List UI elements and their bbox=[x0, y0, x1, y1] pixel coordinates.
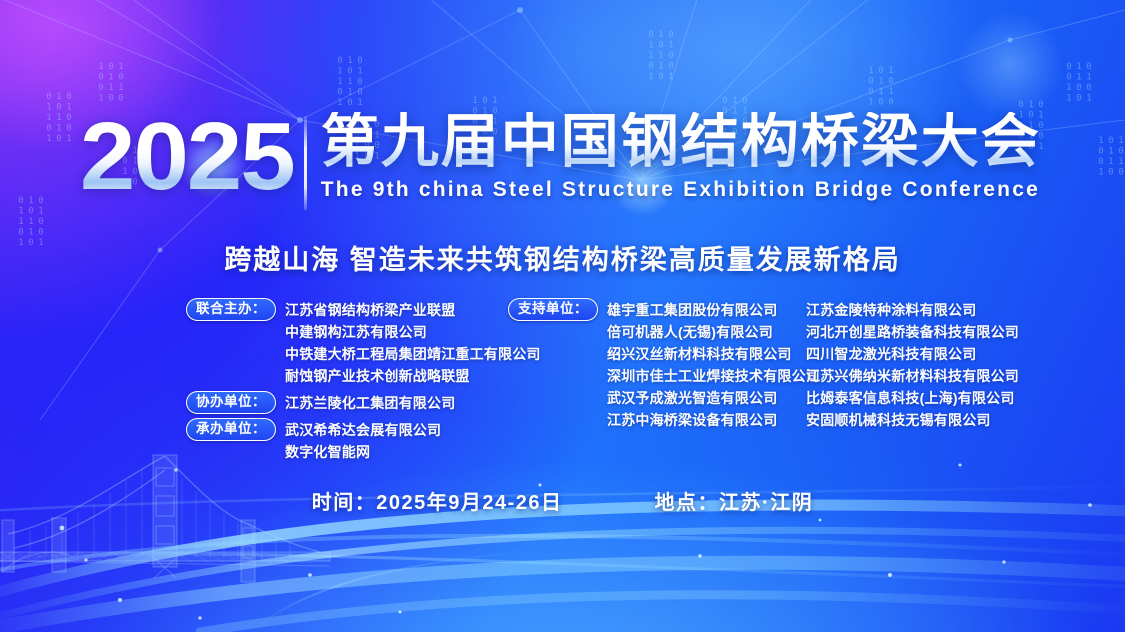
list-item: 倍可机器人(无锡)有限公司 bbox=[607, 321, 820, 343]
list-item: 中铁建大桥工程局集团靖江重工有限公司 bbox=[285, 343, 541, 365]
list-item: 四川智龙激光科技有限公司 bbox=[806, 343, 1106, 365]
organizer-group-undertakers: 承办单位： 武汉希希达会展有限公司 数字化智能网 bbox=[186, 418, 516, 463]
conference-slogan: 跨越山海 智造未来共筑钢结构桥梁高质量发展新格局 bbox=[0, 238, 1125, 277]
label-co-hosts: 联合主办： bbox=[186, 298, 276, 321]
binary-column-9: 1010 0110 1001 bbox=[866, 66, 896, 108]
organizers-section: 联合主办： 江苏省钢结构桥梁产业联盟 中建钢构江苏有限公司 中铁建大桥工程局集团… bbox=[0, 298, 1125, 448]
supporters-list-continued: 江苏金陵特种涂料有限公司 河北开创星路桥装备科技有限公司 四川智龙激光科技有限公… bbox=[806, 298, 1106, 431]
co-hosts-list: 江苏省钢结构桥梁产业联盟 中建钢构江苏有限公司 中铁建大桥工程局集团靖江重工有限… bbox=[285, 298, 541, 387]
organizer-group-co-hosts: 联合主办： 江苏省钢结构桥梁产业联盟 中建钢构江苏有限公司 中铁建大桥工程局集团… bbox=[186, 298, 516, 387]
event-location: 地点：江苏·江阴 bbox=[655, 486, 814, 515]
binary-column-2: 1010 0110 1001 bbox=[96, 62, 126, 104]
organizer-group-co-organizers: 协办单位： 江苏兰陵化工集团有限公司 bbox=[186, 391, 516, 414]
list-item: 数字化智能网 bbox=[285, 441, 441, 463]
label-supporters: 支持单位： bbox=[508, 298, 598, 321]
list-item: 武汉予成激光智造有限公司 bbox=[607, 387, 820, 409]
list-item: 江苏兴佛纳米新材料科技有限公司 bbox=[806, 365, 1106, 387]
binary-column-11: 0101 1100 0011 bbox=[1064, 62, 1094, 104]
list-item: 安固顺机械科技无锡有限公司 bbox=[806, 409, 1106, 431]
title-divider bbox=[304, 116, 307, 210]
list-item: 江苏省钢结构桥梁产业联盟 bbox=[285, 299, 541, 321]
list-item: 绍兴汉丝新材料科技有限公司 bbox=[607, 343, 820, 365]
list-item: 深圳市佳士工业焊接技术有限公司 bbox=[607, 365, 820, 387]
label-co-organizers: 协办单位： bbox=[186, 391, 276, 414]
organizers-middle-column: 支持单位： 雄宇重工集团股份有限公司 倍可机器人(无锡)有限公司 绍兴汉丝新材料… bbox=[508, 298, 808, 434]
event-date: 时间：2025年9月24-26日 bbox=[312, 486, 563, 515]
undertakers-list: 武汉希希达会展有限公司 数字化智能网 bbox=[285, 418, 441, 463]
label-undertakers: 承办单位： bbox=[186, 418, 276, 441]
supporters-list: 雄宇重工集团股份有限公司 倍可机器人(无锡)有限公司 绍兴汉丝新材料科技有限公司… bbox=[607, 298, 820, 431]
conference-poster: 01001 10110 01101 1010 0110 1001 0101 11… bbox=[0, 0, 1125, 632]
conference-title-en: The 9th china Steel Structure Exhibition… bbox=[321, 178, 1041, 202]
co-organizers-list: 江苏兰陵化工集团有限公司 bbox=[285, 391, 455, 414]
organizer-group-supporters: 支持单位： 雄宇重工集团股份有限公司 倍可机器人(无锡)有限公司 绍兴汉丝新材料… bbox=[508, 298, 808, 431]
list-item: 江苏中海桥梁设备有限公司 bbox=[607, 409, 820, 431]
organizers-right-column: 江苏金陵特种涂料有限公司 河北开创星路桥装备科技有限公司 四川智龙激光科技有限公… bbox=[806, 298, 1106, 431]
event-footer: 时间：2025年9月24-26日 地点：江苏·江阴 bbox=[0, 486, 1125, 515]
list-item: 耐蚀钢产业技术创新战略联盟 bbox=[285, 365, 541, 387]
binary-column-7: 01001 10110 01101 bbox=[646, 30, 676, 83]
binary-column-4: 01001 10110 01101 bbox=[335, 56, 365, 109]
list-item: 武汉希希达会展有限公司 bbox=[285, 419, 441, 441]
year-2025: 2025 bbox=[80, 112, 294, 202]
glow-node-right bbox=[955, 10, 1065, 120]
list-item: 河北开创星路桥装备科技有限公司 bbox=[806, 321, 1106, 343]
list-item: 中建钢构江苏有限公司 bbox=[285, 321, 541, 343]
headline-block: 2025 第九届中国钢结构桥梁大会 The 9th china Steel St… bbox=[0, 112, 1125, 210]
list-item: 江苏兰陵化工集团有限公司 bbox=[285, 392, 455, 414]
list-item: 雄宇重工集团股份有限公司 bbox=[607, 299, 820, 321]
list-item: 比姆泰客信息科技(上海)有限公司 bbox=[806, 387, 1106, 409]
organizers-left-column: 联合主办： 江苏省钢结构桥梁产业联盟 中建钢构江苏有限公司 中铁建大桥工程局集团… bbox=[186, 298, 516, 466]
title-column: 第九届中国钢结构桥梁大会 The 9th china Steel Structu… bbox=[321, 112, 1041, 202]
conference-title-cn: 第九届中国钢结构桥梁大会 bbox=[321, 112, 1041, 172]
list-item: 江苏金陵特种涂料有限公司 bbox=[806, 299, 1106, 321]
